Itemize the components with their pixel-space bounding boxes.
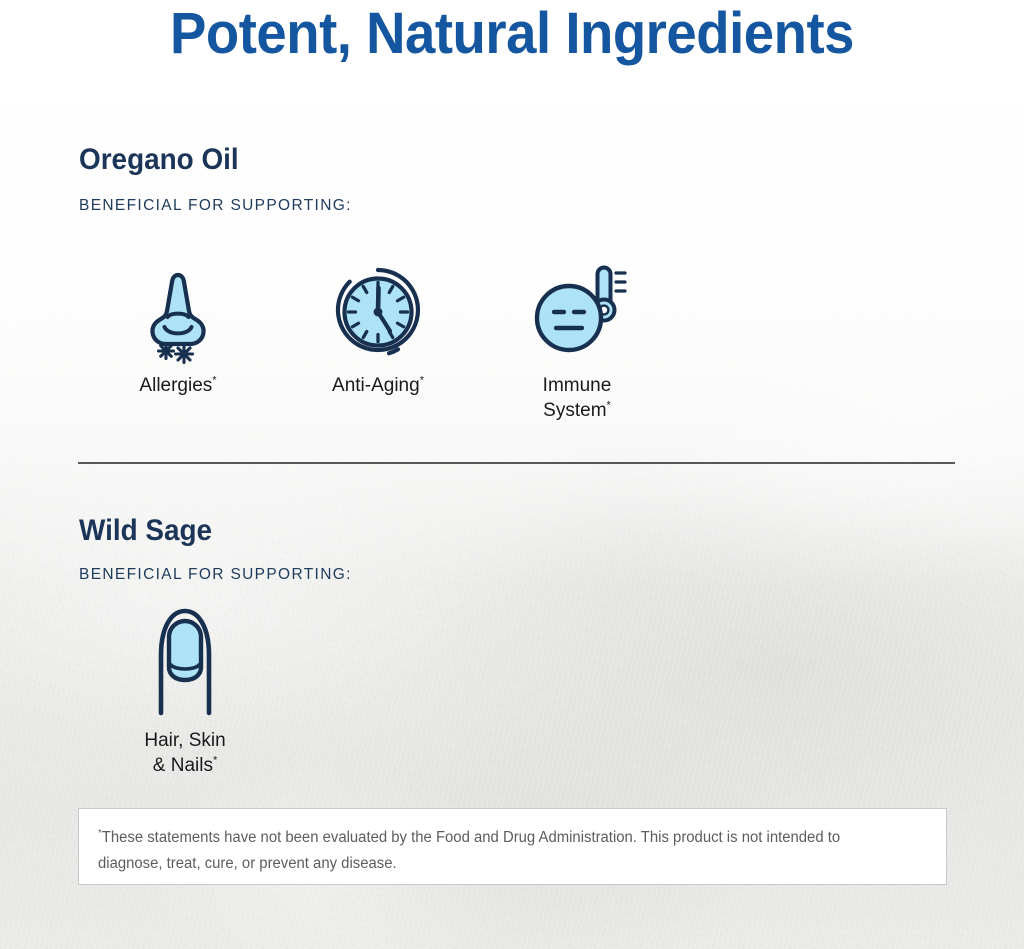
benefit-label-anti-aging: Anti-Aging* (283, 373, 473, 398)
disclaimer-text: *These statements have not been evaluate… (98, 825, 894, 877)
benefit-label-text-line1: Hair, Skin (144, 730, 225, 751)
disclaimer-body: These statements have not been evaluated… (98, 829, 840, 872)
benefit-label-text: Allergies (139, 375, 212, 396)
fingernail-icon-wrapper (90, 597, 280, 719)
benefit-item-allergies: Allergies* (83, 252, 273, 398)
benefit-label-hair-skin-nails: Hair, Skin & Nails* (90, 728, 280, 778)
section-subheading-wild-sage: BENEFICIAL FOR SUPPORTING: (79, 565, 352, 585)
sick-face-thermometer-icon-wrapper (482, 252, 672, 364)
ingredients-infographic-page: Potent, Natural Ingredients Oregano Oil … (0, 0, 1024, 949)
clock-icon (326, 260, 430, 364)
benefit-item-immune-system: Immune System* (482, 252, 672, 423)
footnote-marker: * (213, 755, 217, 767)
sick-face-thermometer-icon (525, 260, 629, 364)
fingernail-icon (133, 597, 237, 719)
nose-allergy-icon (126, 260, 230, 364)
benefit-label-text-line1: Immune (543, 375, 612, 396)
disclaimer-box: *These statements have not been evaluate… (78, 808, 947, 885)
nose-allergy-icon-wrapper (83, 252, 273, 364)
benefit-label-text: Anti-Aging (332, 375, 420, 396)
section-divider (78, 462, 955, 464)
benefit-label-text-line2: System (543, 400, 606, 421)
benefit-label-allergies: Allergies* (83, 373, 273, 398)
page-title: Potent, Natural Ingredients (31, 1, 994, 67)
benefit-label-immune-system: Immune System* (482, 373, 672, 423)
clock-icon-wrapper (283, 252, 473, 364)
benefit-label-text-line2: & Nails (153, 755, 213, 776)
section-heading-wild-sage: Wild Sage (79, 514, 212, 548)
benefit-item-anti-aging: Anti-Aging* (283, 252, 473, 398)
benefit-item-hair-skin-nails: Hair, Skin & Nails* (90, 597, 280, 778)
section-heading-oregano-oil: Oregano Oil (79, 143, 239, 177)
footnote-marker: * (420, 375, 424, 387)
footnote-marker: * (607, 400, 611, 412)
section-subheading-oregano-oil: BENEFICIAL FOR SUPPORTING: (79, 196, 352, 216)
footnote-marker: * (212, 375, 216, 387)
